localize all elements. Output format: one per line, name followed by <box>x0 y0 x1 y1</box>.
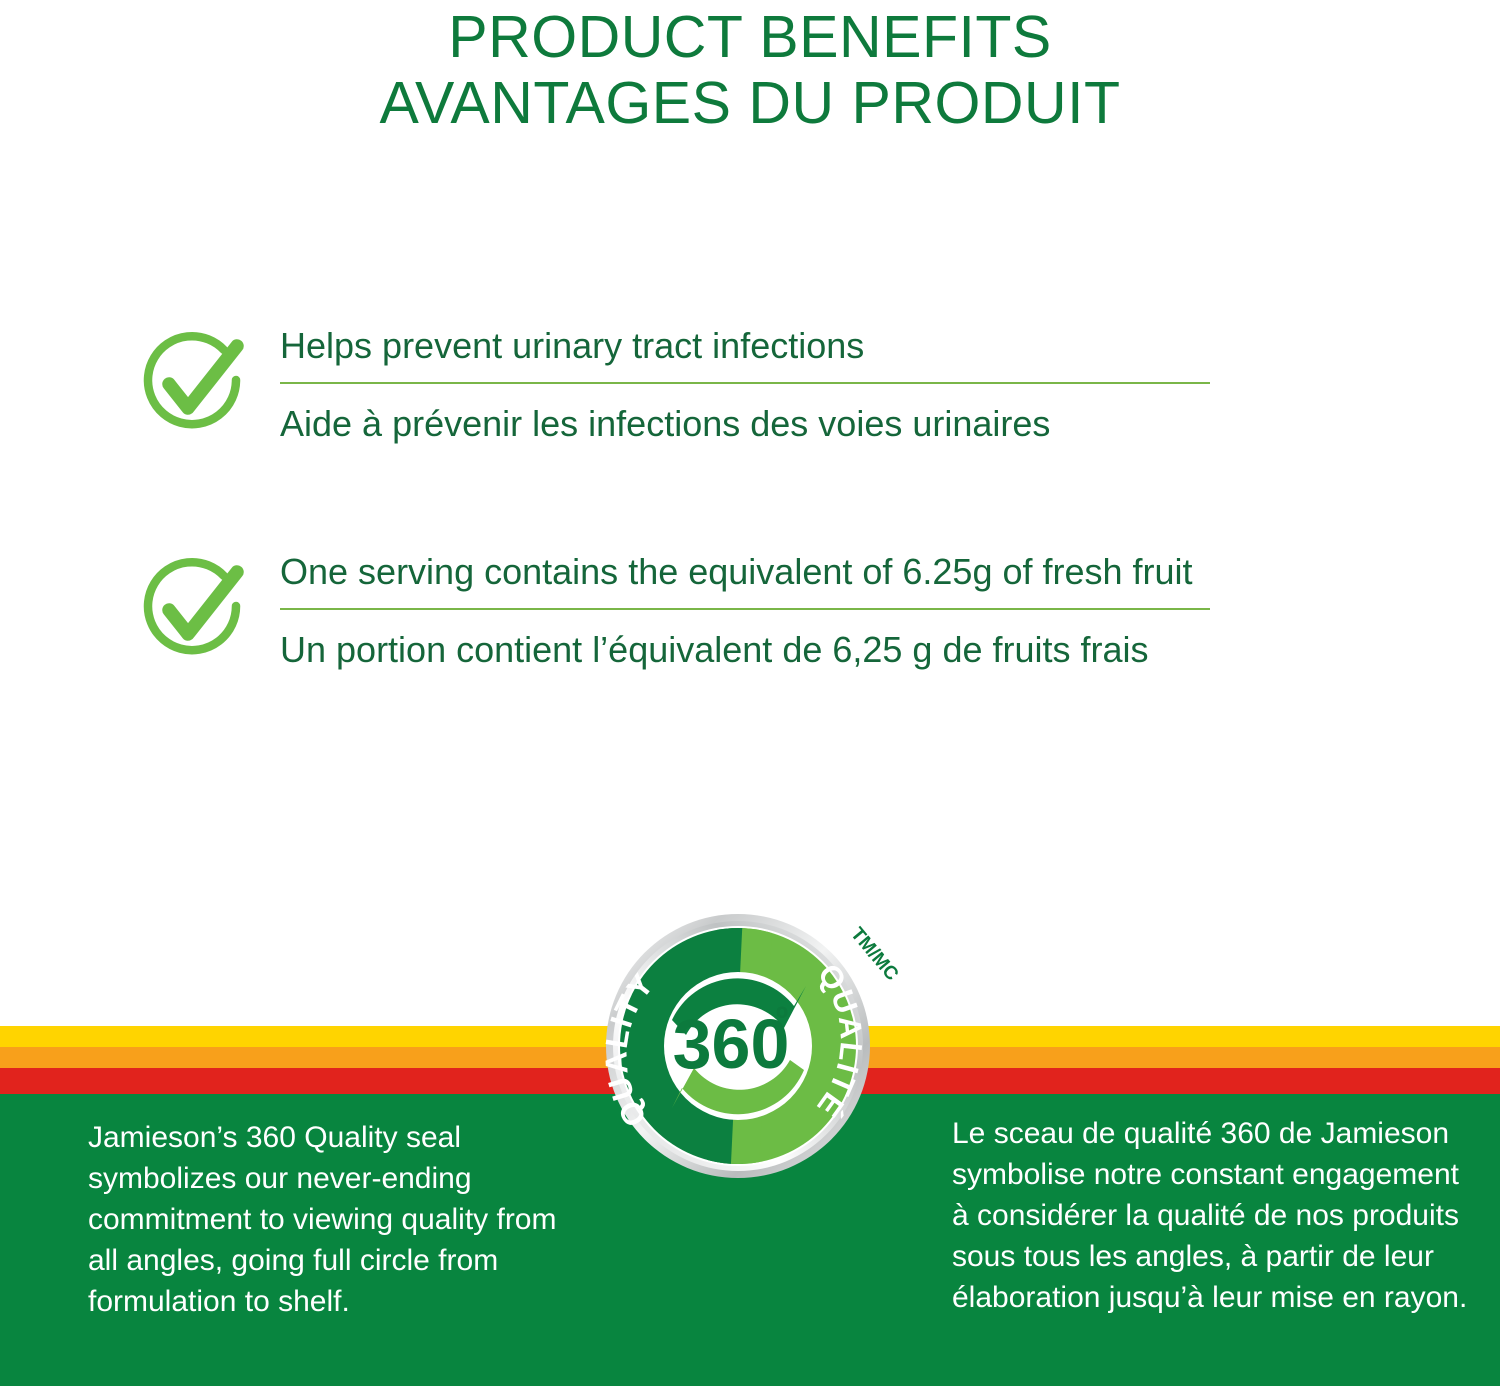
seal-trademark: TM/MC <box>846 924 902 985</box>
panel-description-fr: Le sceau de qualité 360 de Jamieson symb… <box>952 1113 1472 1318</box>
benefit-item: Helps prevent urinary tract infections A… <box>0 318 1500 452</box>
page-title-fr: AVANTAGES DU PRODUIT <box>0 70 1500 136</box>
benefit-divider <box>280 382 1210 384</box>
check-circle-icon <box>140 324 252 436</box>
benefit-text-en: One serving contains the equivalent of 6… <box>280 544 1210 608</box>
benefits-list: Helps prevent urinary tract infections A… <box>0 318 1500 678</box>
seal-degree-symbol: º <box>776 1000 788 1038</box>
page-title-en: PRODUCT BENEFITS <box>0 4 1500 70</box>
benefit-text-fr: Aide à prévenir les infections des voies… <box>280 392 1210 452</box>
panel-description-en: Jamieson’s 360 Quality seal symbolizes o… <box>88 1117 588 1322</box>
benefit-item: One serving contains the equivalent of 6… <box>0 544 1500 678</box>
page-header: PRODUCT BENEFITS AVANTAGES DU PRODUIT <box>0 0 1500 136</box>
product-benefits-panel: PRODUCT BENEFITS AVANTAGES DU PRODUIT He… <box>0 0 1500 1386</box>
check-circle-icon <box>140 550 252 662</box>
360-quality-seal: QUALITY QUALITÉ 360 º TM/MC <box>598 912 888 1184</box>
benefit-text: One serving contains the equivalent of 6… <box>280 544 1340 678</box>
benefit-text-fr: Un portion contient l’équivalent de 6,25… <box>280 618 1210 678</box>
benefit-text: Helps prevent urinary tract infections A… <box>280 318 1340 452</box>
benefit-text-en: Helps prevent urinary tract infections <box>280 318 1210 382</box>
benefit-divider <box>280 608 1210 610</box>
seal-center-number: 360 <box>673 1005 790 1083</box>
